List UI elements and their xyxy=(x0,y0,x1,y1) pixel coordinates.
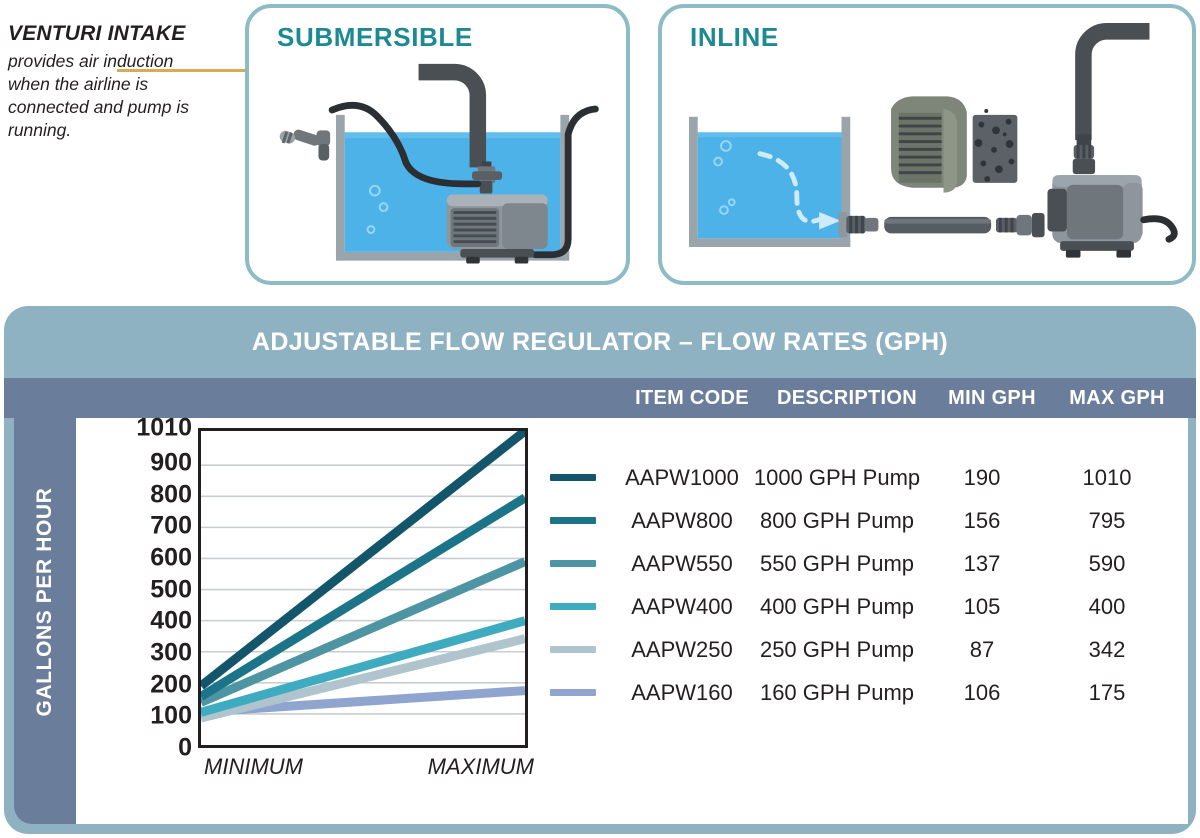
panel-submersible: SUBMERSIBLE xyxy=(245,4,630,285)
panel-inline: INLINE xyxy=(658,4,1196,285)
cell-max-gph: 795 xyxy=(1042,508,1172,534)
y-axis-label: GALLONS PER HOUR xyxy=(14,379,76,825)
table-row: AAPW400 400 GPH Pump 105 400 xyxy=(550,585,1180,628)
y-axis-label-strip: GALLONS PER HOUR xyxy=(14,378,76,824)
cell-max-gph: 342 xyxy=(1042,637,1172,663)
header-min-gph: MIN GPH xyxy=(932,387,1052,410)
cell-item-code: AAPW800 xyxy=(612,508,752,534)
diagram-top-row: VENTURI INTAKE provides air induction wh… xyxy=(0,0,1200,300)
legend-swatch xyxy=(550,517,596,524)
table-row: AAPW160 160 GPH Pump 106 175 xyxy=(550,671,1180,714)
cell-item-code: AAPW400 xyxy=(612,594,752,620)
cell-description: 160 GPH Pump xyxy=(752,680,922,706)
cell-item-code: AAPW1000 xyxy=(612,465,752,491)
cell-max-gph: 175 xyxy=(1042,680,1172,706)
header-max-gph: MAX GPH xyxy=(1052,387,1182,410)
venturi-callout: VENTURI INTAKE provides air induction wh… xyxy=(8,22,208,142)
flow-rate-chart: 10109008007006005004003002001000 MINIMUM… xyxy=(86,428,546,814)
y-tick-label: 900 xyxy=(150,450,192,475)
cell-description: 400 GPH Pump xyxy=(752,594,922,620)
cell-description: 250 GPH Pump xyxy=(752,637,922,663)
chart-lines xyxy=(201,431,525,745)
legend-swatch xyxy=(550,646,596,653)
y-tick-label: 600 xyxy=(150,545,192,570)
cell-min-gph: 137 xyxy=(922,551,1042,577)
table-row: AAPW250 250 GPH Pump 87 342 xyxy=(550,628,1180,671)
legend-swatch xyxy=(550,474,596,481)
cell-description: 1000 GPH Pump xyxy=(752,465,922,491)
table-row: AAPW550 550 GPH Pump 137 590 xyxy=(550,542,1180,585)
submersible-illustration xyxy=(249,8,626,281)
legend-swatch xyxy=(550,603,596,610)
x-tick-label: MINIMUM xyxy=(204,754,303,780)
cell-min-gph: 190 xyxy=(922,465,1042,491)
inline-illustration xyxy=(662,8,1192,281)
chart-and-legend-card: 10109008007006005004003002001000 MINIMUM… xyxy=(76,418,1188,824)
legend-table: AAPW1000 1000 GPH Pump 190 1010 AAPW800 … xyxy=(550,456,1180,714)
header-description: DESCRIPTION xyxy=(762,387,932,410)
callout-title: VENTURI INTAKE xyxy=(8,22,208,46)
y-tick-label: 1010 xyxy=(136,416,192,441)
y-tick-label: 800 xyxy=(150,482,192,507)
cell-min-gph: 87 xyxy=(922,637,1042,663)
y-axis-ticks: 10109008007006005004003002001000 xyxy=(86,428,192,748)
cell-max-gph: 590 xyxy=(1042,551,1172,577)
x-tick-label: MAXIMUM xyxy=(428,754,534,780)
table-row: AAPW1000 1000 GPH Pump 190 1010 xyxy=(550,456,1180,499)
cell-max-gph: 400 xyxy=(1042,594,1172,620)
y-tick-label: 200 xyxy=(150,672,192,697)
y-tick-label: 700 xyxy=(150,514,192,539)
chart-plot-area xyxy=(198,428,528,748)
flow-panel-title: ADJUSTABLE FLOW REGULATOR – FLOW RATES (… xyxy=(4,328,1196,357)
cell-item-code: AAPW550 xyxy=(612,551,752,577)
cell-description: 800 GPH Pump xyxy=(752,508,922,534)
cell-max-gph: 1010 xyxy=(1042,465,1172,491)
y-tick-label: 300 xyxy=(150,640,192,665)
y-tick-label: 100 xyxy=(150,704,192,729)
cell-item-code: AAPW250 xyxy=(612,637,752,663)
cell-min-gph: 156 xyxy=(922,508,1042,534)
legend-swatch xyxy=(550,689,596,696)
y-tick-label: 500 xyxy=(150,577,192,602)
x-axis-ticks: MINIMUMMAXIMUM xyxy=(198,754,528,788)
callout-body: provides air induction when the airline … xyxy=(8,50,208,142)
table-row: AAPW800 800 GPH Pump 156 795 xyxy=(550,499,1180,542)
cell-item-code: AAPW160 xyxy=(612,680,752,706)
y-tick-label: 400 xyxy=(150,609,192,634)
cell-description: 550 GPH Pump xyxy=(752,551,922,577)
table-header-row: ITEM CODE DESCRIPTION MIN GPH MAX GPH xyxy=(622,378,1196,418)
legend-swatch xyxy=(550,560,596,567)
header-item-code: ITEM CODE xyxy=(622,387,762,410)
flow-rates-panel: ADJUSTABLE FLOW REGULATOR – FLOW RATES (… xyxy=(4,306,1196,834)
cell-min-gph: 106 xyxy=(922,680,1042,706)
y-tick-label: 0 xyxy=(178,736,192,761)
cell-min-gph: 105 xyxy=(922,594,1042,620)
